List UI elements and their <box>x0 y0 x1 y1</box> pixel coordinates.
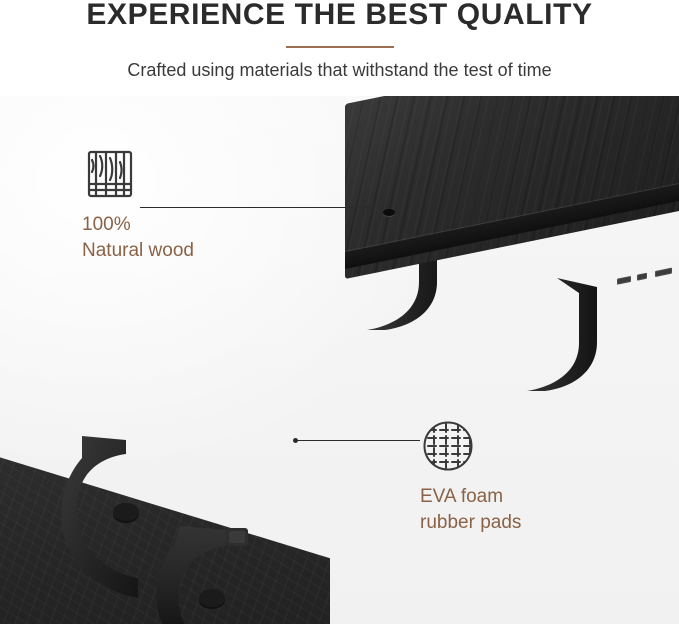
leader-line-eva <box>296 440 420 441</box>
callout-natural-wood-line2: Natural wood <box>82 238 312 264</box>
wood-plank-icon <box>82 146 138 202</box>
riser-underside-legs <box>0 336 350 624</box>
usb-port <box>617 276 631 285</box>
callout-eva-foam-line1: EVA foam <box>420 484 650 510</box>
monitor-riser-top-view <box>345 104 679 404</box>
callout-eva-foam-line2: rubber pads <box>420 510 650 536</box>
page-title: EXPERIENCE THE BEST QUALITY <box>0 0 679 34</box>
page-subtitle: Crafted using materials that withstand t… <box>0 57 679 83</box>
product-scene: 100% Natural wood <box>0 96 679 624</box>
callout-eva-foam: EVA foam rubber pads <box>420 418 650 536</box>
title-divider <box>286 46 394 48</box>
callout-natural-wood: 100% Natural wood <box>82 146 312 264</box>
cable-grommet <box>383 209 395 216</box>
usb-port-group <box>615 257 679 291</box>
usb-a-port <box>655 268 672 277</box>
leader-dot-wood <box>366 205 371 210</box>
usb-c-port <box>637 273 647 281</box>
callout-natural-wood-line1: 100% <box>82 212 312 238</box>
leader-dot-eva <box>293 438 298 443</box>
monitor-riser-underside-view <box>0 336 350 624</box>
product-feature-image: EXPERIENCE THE BEST QUALITY Crafted usin… <box>0 0 679 624</box>
woven-mesh-circle-icon <box>420 418 476 474</box>
riser-top-panel <box>345 104 679 294</box>
